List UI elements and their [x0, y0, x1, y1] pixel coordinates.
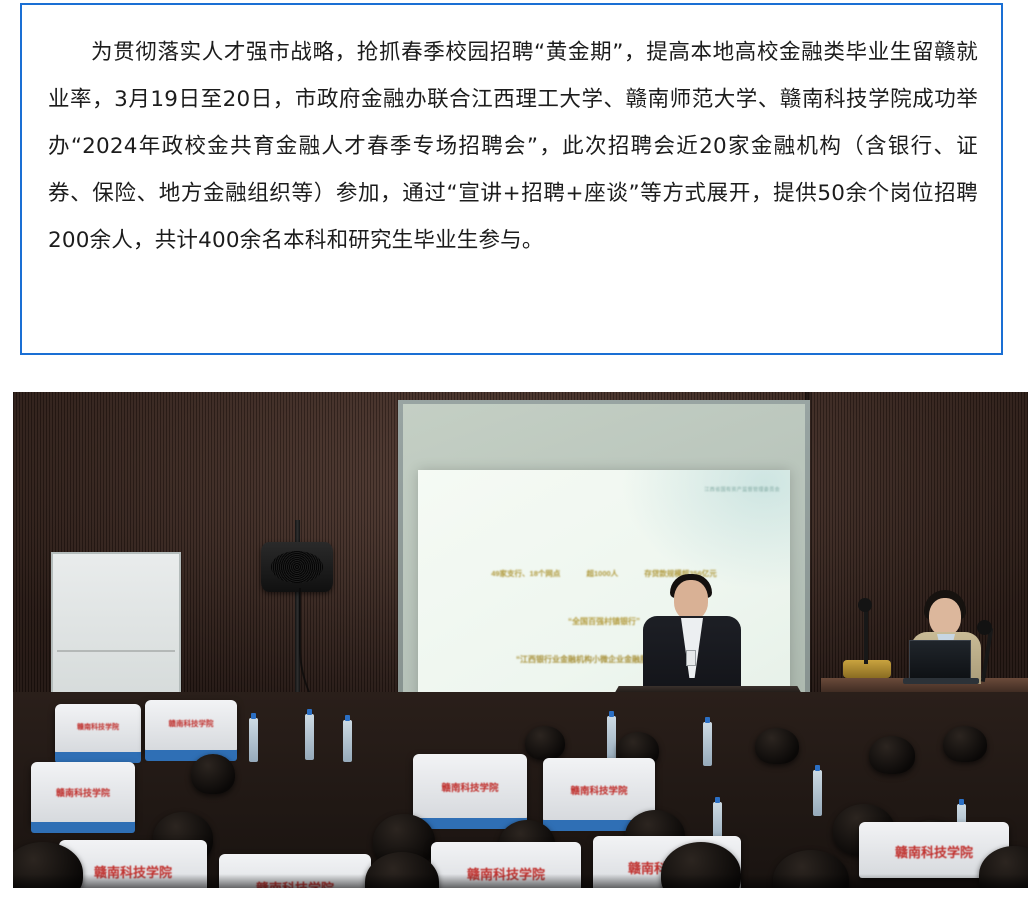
water-bottle	[703, 722, 712, 766]
chair-cover: 赣南科技学院	[413, 754, 527, 820]
laptop-base	[903, 678, 979, 684]
slide-line-1-left: 49家支行、18个网点	[491, 569, 560, 578]
slide-line-1-mid: 超1000人	[586, 569, 618, 578]
chair-label: 赣南科技学院	[543, 783, 655, 797]
water-bottle	[343, 720, 352, 762]
cabinet-divider	[57, 650, 175, 652]
loudspeaker-icon	[261, 542, 333, 592]
audience-head	[869, 736, 915, 774]
photo-bottom-fade	[13, 874, 1028, 888]
audience-head	[525, 726, 565, 760]
chair-label: 赣南科技学院	[413, 780, 527, 794]
chair-cover: 赣南科技学院	[543, 758, 655, 822]
laptop-icon	[909, 640, 971, 680]
slide-header-text: 江西省国有资产监督管理委员会	[418, 486, 780, 493]
microphone-icon	[858, 598, 872, 612]
chair-label: 赣南科技学院	[55, 722, 141, 732]
chair-cover: 赣南科技学院	[55, 704, 141, 754]
slide-line-1: 49家支行、18个网点 超1000人 存贷款规模超356亿元	[418, 568, 790, 579]
presenter-head	[674, 580, 708, 620]
chair-label: 赣南科技学院	[145, 718, 237, 729]
presenter-badge	[686, 650, 696, 666]
audience-area: 赣南科技学院 赣南科技学院 赣南科技学院 赣南科技学院 赣南科技学院	[13, 692, 1028, 888]
audience-head	[943, 726, 987, 762]
article-text-card: 为贯彻落实人才强市战略，抢抓春季校园招聘“黄金期”，提高本地高校金融类毕业生留赣…	[20, 3, 1003, 355]
audience-head	[191, 754, 235, 794]
microphone-2-icon	[977, 620, 992, 635]
microphone-stem	[864, 606, 868, 664]
chair-backrest	[31, 822, 135, 833]
water-bottle	[305, 714, 314, 760]
article-paragraph: 为贯彻落实人才强市战略，抢抓春季校园招聘“黄金期”，提高本地高校金融类毕业生留赣…	[48, 29, 978, 264]
conference-photo: 江西省国有资产监督管理委员会 49家支行、18个网点 超1000人 存贷款规模超…	[13, 392, 1028, 888]
audience-head	[755, 728, 799, 764]
water-bottle	[607, 716, 616, 762]
seated-person-head	[929, 598, 961, 636]
water-bottle	[813, 770, 822, 816]
chair-label: 赣南科技学院	[31, 786, 135, 799]
chair-cover: 赣南科技学院	[145, 700, 237, 752]
chair-cover: 赣南科技学院	[31, 762, 135, 824]
water-bottle	[249, 718, 258, 762]
